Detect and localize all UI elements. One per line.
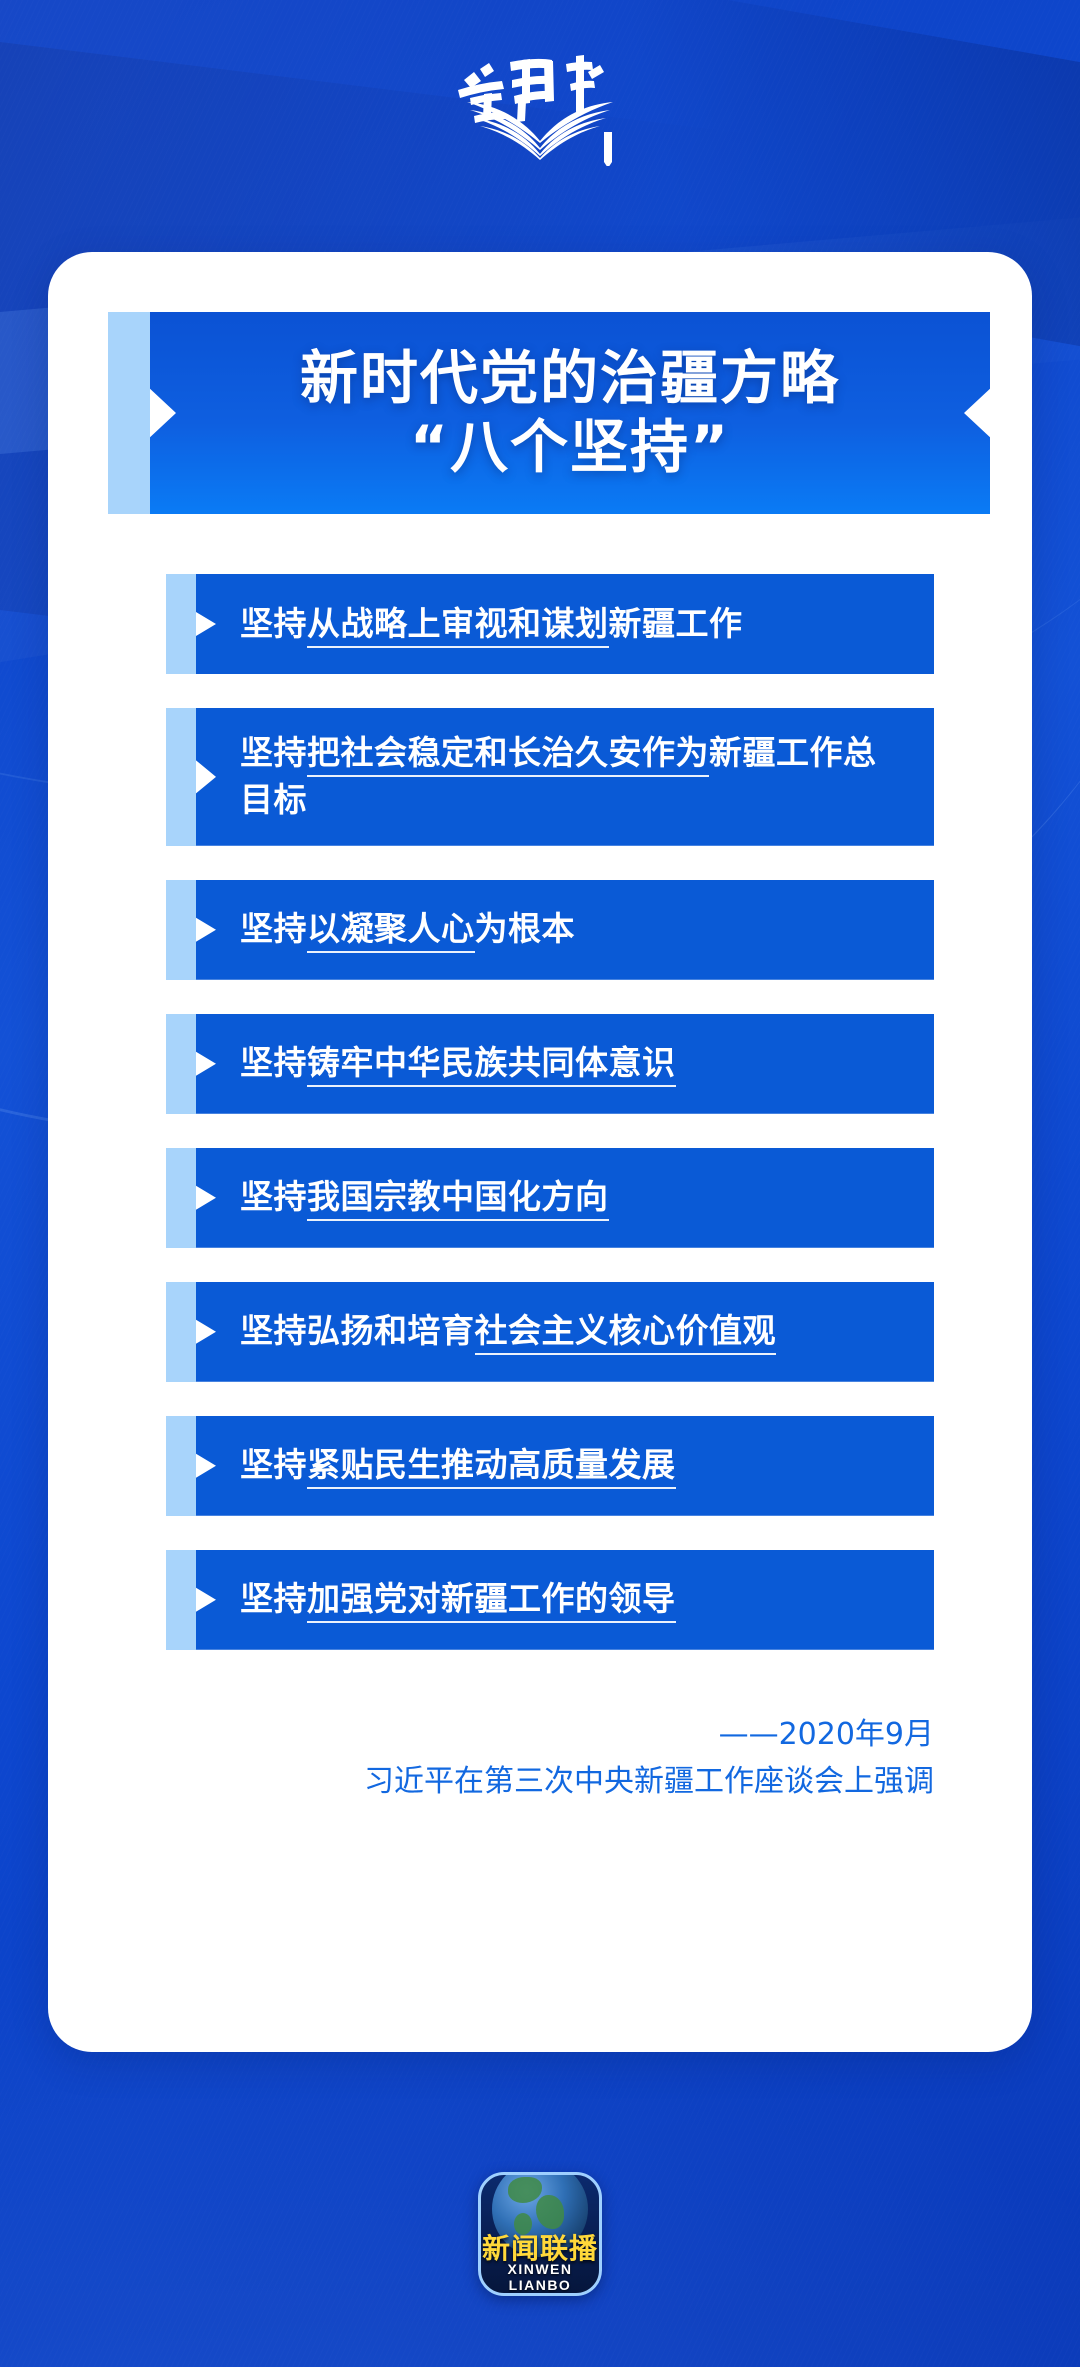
list-item-body[interactable]: 坚持紧贴民生推动高质量发展 (196, 1416, 934, 1516)
list-item-prefix: 坚持 (240, 1177, 307, 1216)
list-item-prefix: 坚持弘扬和培育 (240, 1311, 475, 1350)
list-item-tab (166, 1014, 196, 1114)
xinwen-lianbo-logo-icon[interactable]: 新闻联播 XINWEN LIANBO (478, 2172, 602, 2296)
page-title-line2: “八个坚持” (410, 415, 730, 480)
list-item-text: 坚持弘扬和培育社会主义核心价值观 (196, 1286, 802, 1377)
list-item-underlined: 紧贴民生推动高质量发展 (307, 1445, 676, 1489)
logo-label-en: XINWEN LIANBO (481, 2261, 599, 2293)
list-item-body[interactable]: 坚持以凝聚人心为根本 (196, 880, 934, 980)
list-item-body[interactable]: 坚持把社会稳定和长治久安作为新疆工作总目标 (196, 708, 934, 846)
list-item[interactable]: 坚持以凝聚人心为根本 (48, 880, 1032, 980)
list-item[interactable]: 坚持我国宗教中国化方向 (48, 1148, 1032, 1248)
page-title: 新时代党的治疆方略 “八个坚持” (150, 312, 990, 514)
page-title-line1: 新时代党的治疆方略 (300, 346, 840, 411)
list-item-suffix: 为根本 (475, 909, 576, 948)
list-item-tab (166, 1550, 196, 1650)
list-item-prefix: 坚持 (240, 733, 307, 772)
title-banner: 新时代党的治疆方略 “八个坚持” (48, 312, 1032, 514)
list-item-text: 坚持以凝聚人心为根本 (196, 884, 601, 975)
list-item-body[interactable]: 坚持我国宗教中国化方向 (196, 1148, 934, 1248)
list-item-underlined: 铸牢中华民族共同体意识 (307, 1043, 676, 1087)
attribution-date: ——2020年9月 (48, 1712, 934, 1757)
list-item-underlined: 社会主义核心价值观 (475, 1311, 777, 1355)
list-item-suffix: 新疆工作 (609, 604, 743, 643)
content-card: 新时代党的治疆方略 “八个坚持” 坚持从战略上审视和谋划新疆工作 坚持把社会稳定… (48, 252, 1032, 2052)
list-item-tab (166, 1416, 196, 1516)
list-item-text: 坚持紧贴民生推动高质量发展 (196, 1420, 702, 1511)
list-item-text: 坚持加强党对新疆工作的领导 (196, 1554, 702, 1645)
list-item-text: 坚持铸牢中华民族共同体意识 (196, 1018, 702, 1109)
list-item-prefix: 坚持 (240, 604, 307, 643)
list-item[interactable]: 坚持弘扬和培育社会主义核心价值观 (48, 1282, 1032, 1382)
list-item-prefix: 坚持 (240, 1579, 307, 1618)
list-item-tab (166, 1282, 196, 1382)
brand-header (0, 36, 1080, 166)
list-item[interactable]: 坚持把社会稳定和长治久安作为新疆工作总目标 (48, 708, 1032, 846)
list-item[interactable]: 坚持从战略上审视和谋划新疆工作 (48, 574, 1032, 674)
list-item-underlined: 加强党对新疆工作的领导 (307, 1579, 676, 1623)
list-item-body[interactable]: 坚持从战略上审视和谋划新疆工作 (196, 574, 934, 674)
list-item-text: 坚持从战略上审视和谋划新疆工作 (196, 579, 769, 670)
list-item-prefix: 坚持 (240, 1445, 307, 1484)
globe-landmass (508, 2177, 542, 2203)
list-item-text: 坚持把社会稳定和长治久安作为新疆工作总目标 (196, 708, 934, 846)
list-item-underlined: 把社会稳定和长治久安作为 (307, 733, 709, 777)
attribution-source: 习近平在第三次中央新疆工作座谈会上强调 (48, 1759, 934, 1804)
list-item-prefix: 坚持 (240, 1043, 307, 1082)
list-item-underlined: 我国宗教中国化方向 (307, 1177, 609, 1221)
list-item[interactable]: 坚持加强党对新疆工作的领导 (48, 1550, 1032, 1650)
list-item-underlined: 以凝聚人心 (307, 909, 475, 953)
list-item-underlined: 从战略上审视和谋划 (307, 604, 609, 648)
title-banner-tab (108, 312, 150, 514)
globe-landmass (536, 2195, 564, 2229)
list-item-body[interactable]: 坚持弘扬和培育社会主义核心价值观 (196, 1282, 934, 1382)
list-item-tab (166, 708, 196, 846)
list-item-text: 坚持我国宗教中国化方向 (196, 1152, 635, 1243)
list-item-tab (166, 1148, 196, 1248)
list-item-body[interactable]: 坚持铸牢中华民族共同体意识 (196, 1014, 934, 1114)
list-item-body[interactable]: 坚持加强党对新疆工作的领导 (196, 1550, 934, 1650)
list-item-tab (166, 574, 196, 674)
attribution: ——2020年9月 习近平在第三次中央新疆工作座谈会上强调 (48, 1712, 934, 1804)
list-item[interactable]: 坚持紧贴民生推动高质量发展 (48, 1416, 1032, 1516)
list-item[interactable]: 坚持铸牢中华民族共同体意识 (48, 1014, 1032, 1114)
list-item-tab (166, 880, 196, 980)
study-card-book-logo-icon (440, 36, 640, 166)
principles-list: 坚持从战略上审视和谋划新疆工作 坚持把社会稳定和长治久安作为新疆工作总目标 坚持… (48, 574, 1032, 1650)
list-item-prefix: 坚持 (240, 909, 307, 948)
